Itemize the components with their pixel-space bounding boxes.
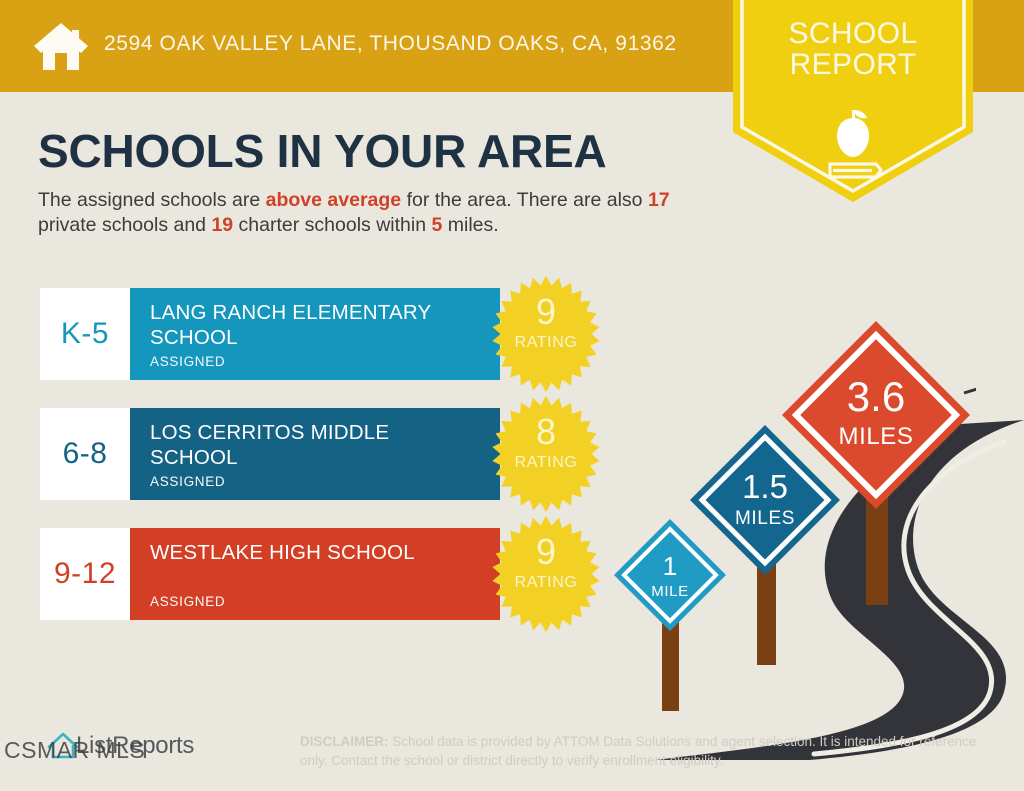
school-list: K-5 LANG RANCH ELEMENTARY SCHOOL ASSIGNE… [40, 288, 545, 648]
school-name: LANG RANCH ELEMENTARY SCHOOL [150, 300, 450, 350]
school-name: WESTLAKE HIGH SCHOOL [150, 540, 450, 565]
badge-line-2: REPORT [790, 48, 917, 81]
property-address: 2594 OAK VALLEY LANE, THOUSAND OAKS, CA,… [104, 32, 677, 56]
grade-range-box: 6-8 [40, 408, 130, 500]
disclaimer: DISCLAIMER: School data is provided by A… [300, 732, 980, 770]
mls-watermark: CSMAR MLS [4, 737, 145, 764]
school-bar: LOS CERRITOS MIDDLE SCHOOL ASSIGNED [130, 408, 500, 500]
school-bar: LANG RANCH ELEMENTARY SCHOOL ASSIGNED [130, 288, 500, 380]
school-row[interactable]: 6-8 LOS CERRITOS MIDDLE SCHOOL ASSIGNED … [40, 408, 545, 500]
school-name: LOS CERRITOS MIDDLE SCHOOL [150, 420, 450, 470]
home-icon [32, 20, 90, 72]
subtitle-part-2: for the area. There are also [401, 189, 648, 211]
rating-value: 9 [492, 294, 600, 330]
school-report-badge: SCHOOL REPORT [733, 0, 973, 210]
subtitle-accent-charter-count: 19 [211, 214, 233, 236]
rating-badge: 8 RATING [492, 396, 600, 512]
grade-range-label: 6-8 [63, 437, 108, 471]
school-status: ASSIGNED [150, 354, 225, 369]
subtitle-accent-above-average: above average [266, 189, 402, 211]
rating-value: 9 [492, 534, 600, 570]
rating-badge: 9 RATING [492, 276, 600, 392]
grade-range-box: K-5 [40, 288, 130, 380]
grade-range-box: 9-12 [40, 528, 130, 620]
rating-label: RATING [492, 334, 600, 352]
rating-label: RATING [492, 454, 600, 472]
sign-unit: MILES [776, 423, 976, 451]
distance-sign: 3.6 MILES [776, 315, 976, 615]
rating-label: RATING [492, 574, 600, 592]
subtitle-part-3: private schools and [38, 214, 211, 236]
subtitle-accent-radius: 5 [431, 214, 442, 236]
subtitle: The assigned schools are above average f… [38, 188, 718, 238]
subtitle-part-5: miles. [442, 214, 498, 236]
school-row[interactable]: K-5 LANG RANCH ELEMENTARY SCHOOL ASSIGNE… [40, 288, 545, 380]
page-title: SCHOOLS IN YOUR AREA [38, 124, 607, 178]
subtitle-part-1: The assigned schools are [38, 189, 266, 211]
grade-range-label: 9-12 [54, 557, 116, 591]
subtitle-part-4: charter schools within [233, 214, 431, 236]
school-status: ASSIGNED [150, 594, 225, 609]
grade-range-label: K-5 [61, 317, 109, 351]
subtitle-accent-private-count: 17 [648, 189, 670, 211]
disclaimer-label: DISCLAIMER: [300, 734, 389, 749]
rating-value: 8 [492, 414, 600, 450]
school-bar: WESTLAKE HIGH SCHOOL ASSIGNED [130, 528, 500, 620]
disclaimer-text: School data is provided by ATTOM Data So… [300, 734, 976, 768]
distance-illustration: 1 MILE 1.5 MILES 3.6 MILES [600, 300, 1024, 760]
sign-value: 3.6 [776, 373, 976, 421]
badge-line-1: SCHOOL [788, 17, 917, 50]
school-row[interactable]: 9-12 WESTLAKE HIGH SCHOOL ASSIGNED 9 RAT… [40, 528, 545, 620]
rating-badge: 9 RATING [492, 516, 600, 632]
school-status: ASSIGNED [150, 474, 225, 489]
infographic-canvas: 2594 OAK VALLEY LANE, THOUSAND OAKS, CA,… [0, 0, 1024, 791]
badge-text: SCHOOL REPORT [733, 18, 973, 80]
